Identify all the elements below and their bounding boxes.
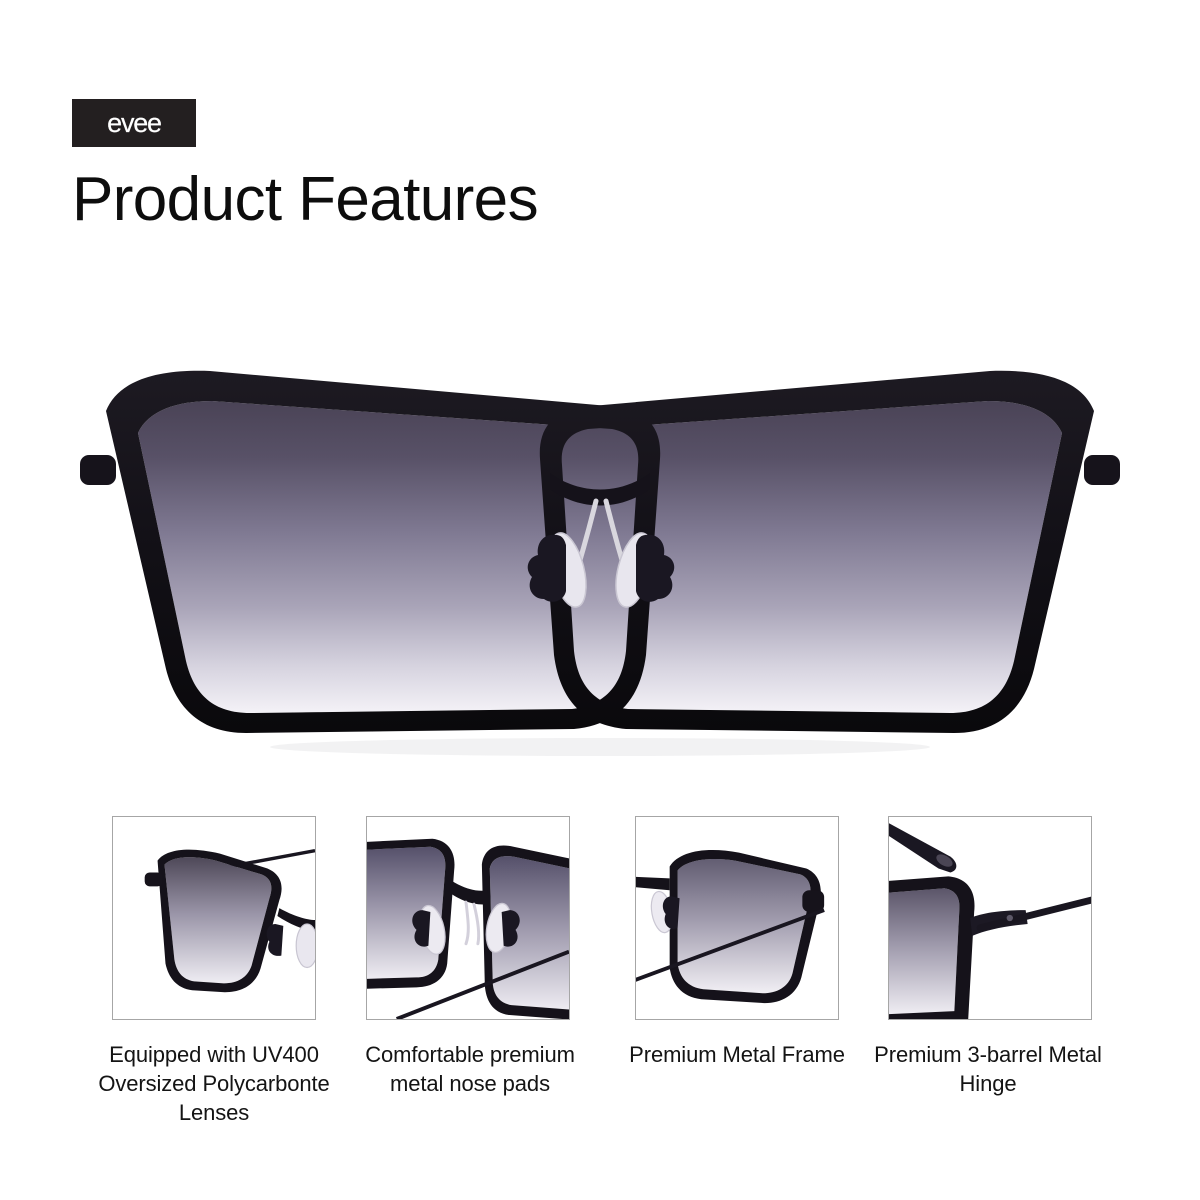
thumb3-lens (678, 859, 811, 993)
thumb4-hinge-screw (1007, 915, 1013, 921)
feature-thumbnail-uv400-lenses[interactable] (112, 816, 316, 1020)
left-hinge-nub (80, 455, 116, 485)
feature-thumbnail-row (0, 816, 1200, 1022)
product-features-page: evee Product Features (0, 0, 1200, 1200)
brand-logo-text: evee (107, 110, 161, 137)
feature-caption-uv400-lenses: Equipped with UV400 Oversized Polycarbon… (89, 1040, 339, 1127)
sunglasses-illustration (60, 355, 1140, 775)
feature-caption-nose-pads: Comfortable premium metal nose pads (345, 1040, 595, 1098)
hinge-closeup-image (889, 817, 1091, 1019)
brand-logo: evee (72, 99, 196, 147)
hero-product-image (60, 355, 1140, 775)
thumb1-hinge-nub (145, 872, 163, 886)
lens-corner-closeup-image (113, 817, 315, 1019)
feature-thumbnail-nose-pads[interactable] (366, 816, 570, 1020)
metal-frame-closeup-image (636, 817, 838, 1019)
thumb3-hinge-nub (802, 890, 824, 912)
product-shadow (270, 738, 930, 756)
feature-caption-metal-frame: Premium Metal Frame (612, 1040, 862, 1069)
feature-caption-metal-hinge: Premium 3-barrel Metal Hinge (863, 1040, 1113, 1098)
feature-thumbnail-metal-frame[interactable] (635, 816, 839, 1020)
thumb1-nose-pad (296, 924, 315, 968)
page-title: Product Features (72, 166, 538, 234)
thumb4-lens (889, 888, 959, 1015)
feature-thumbnail-metal-hinge[interactable] (888, 816, 1092, 1020)
nose-pads-closeup-image (367, 817, 569, 1019)
right-hinge-nub (1084, 455, 1120, 485)
